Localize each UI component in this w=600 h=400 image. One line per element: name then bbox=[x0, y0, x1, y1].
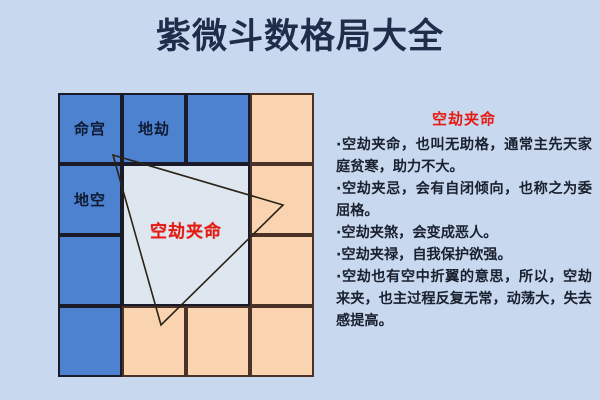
grid-cell-r3-c1[interactable] bbox=[122, 306, 186, 377]
grid-cell-r2-c0[interactable] bbox=[58, 235, 122, 306]
panel-heading: 空劫夹命 bbox=[336, 108, 592, 129]
slide-canvas: 紫微斗数格局大全 命宫地劫地空 空劫夹命 空劫夹命 ·空劫夹命，也叫无助格，通常… bbox=[0, 0, 600, 400]
grid-cell-r0-c0[interactable]: 命宫 bbox=[58, 93, 122, 164]
astrology-chart-grid: 命宫地劫地空 空劫夹命 bbox=[58, 93, 314, 377]
panel-list-item: ·空劫夹煞，会变成恶人。 bbox=[336, 222, 592, 244]
grid-cell-r3-c3[interactable] bbox=[250, 306, 314, 377]
grid-cell-label: 命宫 bbox=[74, 118, 106, 139]
grid-cell-r2-c3[interactable] bbox=[250, 235, 314, 306]
panel-list-item: ·空劫夹忌，会有自闭倾向，也称之为委屈格。 bbox=[336, 178, 592, 222]
panel-list-item: ·空劫也有空中折翼的意思，所以，空劫来夹，也主过程反复无常，动荡大，失去感提高。 bbox=[336, 266, 592, 332]
grid-cell-r1-c3[interactable] bbox=[250, 164, 314, 235]
grid-cell-r3-c0[interactable] bbox=[58, 306, 122, 377]
center-cell-label: 空劫夹命 bbox=[150, 217, 222, 242]
grid-cell-r1-c0[interactable]: 地空 bbox=[58, 164, 122, 235]
grid-cell-label: 地劫 bbox=[138, 118, 170, 139]
grid-cell-r3-c2[interactable] bbox=[186, 306, 250, 377]
description-panel: 空劫夹命 ·空劫夹命，也叫无助格，通常主先天家庭贫寒，助力不大。·空劫夹忌，会有… bbox=[336, 108, 592, 332]
center-merged-cell: 空劫夹命 bbox=[122, 164, 250, 306]
panel-list-item: ·空劫夹禄，自我保护欲强。 bbox=[336, 244, 592, 266]
grid-cell-label: 地空 bbox=[74, 189, 106, 210]
grid-cell-r0-c1[interactable]: 地劫 bbox=[122, 93, 186, 164]
grid-cell-r0-c2[interactable] bbox=[186, 93, 250, 164]
panel-list-item: ·空劫夹命，也叫无助格，通常主先天家庭贫寒，助力不大。 bbox=[336, 134, 592, 178]
panel-item-list: ·空劫夹命，也叫无助格，通常主先天家庭贫寒，助力不大。·空劫夹忌，会有自闭倾向，… bbox=[336, 134, 592, 332]
grid-cell-r0-c3[interactable] bbox=[250, 93, 314, 164]
page-title: 紫微斗数格局大全 bbox=[0, 16, 600, 60]
